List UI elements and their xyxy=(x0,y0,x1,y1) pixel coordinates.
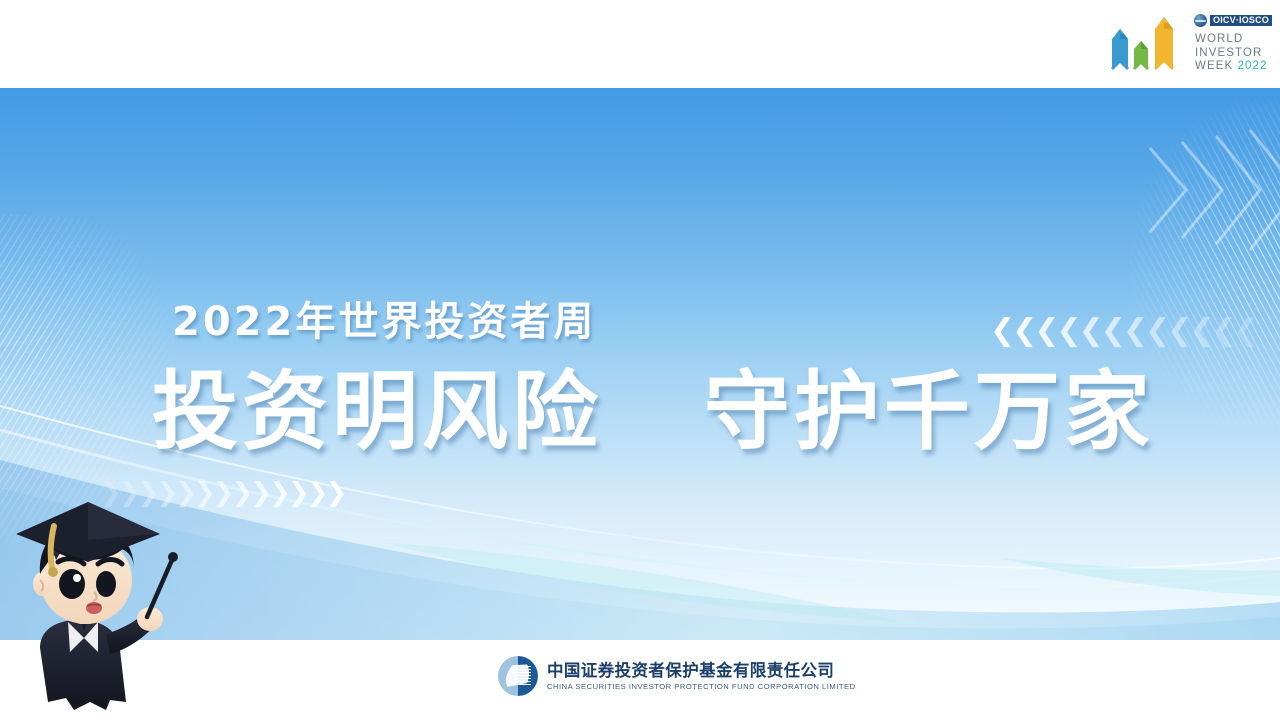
spic-fund-circle-logo-icon xyxy=(498,656,538,696)
wiw-week-label: WEEK xyxy=(1195,60,1233,72)
iosco-wordmark: OICV·IOSCO xyxy=(1210,15,1272,26)
graduate-teacher-mascot-icon xyxy=(0,488,194,719)
wiw-line-world: WORLD xyxy=(1195,33,1268,47)
wiw-line-investor: INVESTOR xyxy=(1195,47,1268,61)
chevron-icon: ❮ xyxy=(1234,316,1259,346)
world-investor-week-logo[interactable]: OICV·IOSCO WORLD INVESTOR WEEK 2022 xyxy=(1098,5,1270,83)
iosco-brand-mark: OICV·IOSCO xyxy=(1194,14,1272,27)
fund-corporation-logo[interactable]: 中国证券投资者保护基金有限责任公司 CHINA SECURITIES INVES… xyxy=(498,656,856,696)
headline-part-2: 守护千万家 xyxy=(704,362,1154,462)
large-chevron-outline-group-icon xyxy=(1120,108,1280,298)
poster-stage: 2022年世界投资者周 投资明风险 守护千万家 ❮❮❮❮❮❮❮❮❮❮❮❮ ❯❯❯… xyxy=(0,0,1280,719)
chevron-strip-right: ❮❮❮❮❮❮❮❮❮❮❮❮ xyxy=(990,316,1256,346)
wiw-year: 2022 xyxy=(1238,60,1268,72)
company-name-en: CHINA SECURITIES INVESTOR PROTECTION FUN… xyxy=(547,682,856,692)
top-white-bar: OICV·IOSCO WORLD INVESTOR WEEK 2022 xyxy=(0,0,1280,88)
banner-subtitle: 2022年世界投资者周 xyxy=(172,298,596,346)
fund-corporation-names: 中国证券投资者保护基金有限责任公司 CHINA SECURITIES INVES… xyxy=(547,661,856,692)
logo-stripe-lines xyxy=(514,666,531,686)
chevron-icon: ❯ xyxy=(326,478,348,508)
chevron-icon: ❯ xyxy=(307,478,329,508)
world-investor-week-text: WORLD INVESTOR WEEK 2022 xyxy=(1195,33,1268,74)
three-pencils-icon xyxy=(1100,11,1192,83)
wiw-line-week: WEEK 2022 xyxy=(1195,60,1268,74)
globe-icon xyxy=(1194,14,1207,27)
banner-headline: 投资明风险 守护千万家 xyxy=(152,360,1154,464)
company-name-cn: 中国证券投资者保护基金有限责任公司 xyxy=(547,661,856,680)
headline-part-1: 投资明风险 xyxy=(152,362,602,462)
